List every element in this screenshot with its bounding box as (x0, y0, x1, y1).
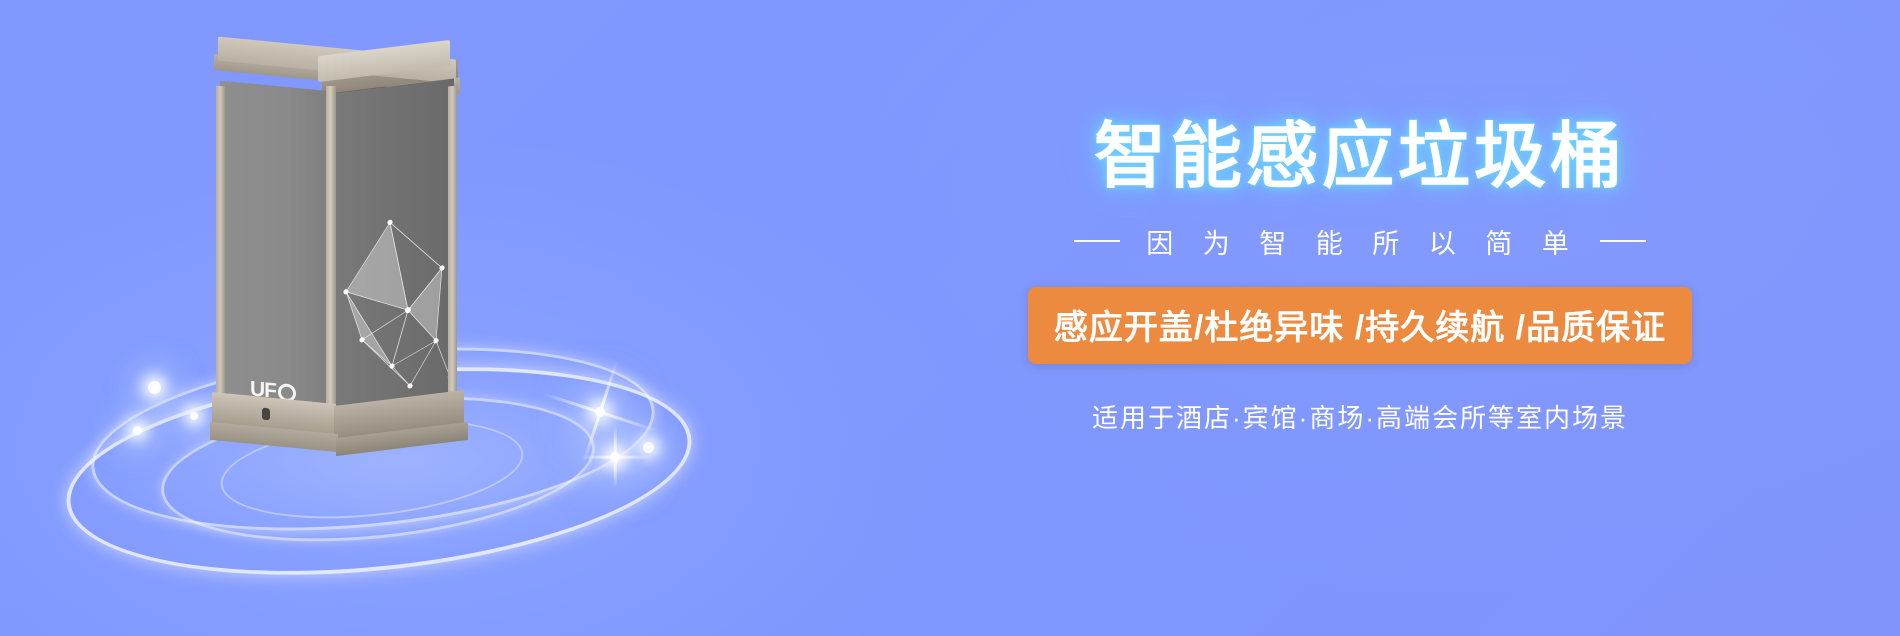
bin-sensor-icon (262, 408, 270, 421)
bin-face-right (332, 79, 454, 416)
headline: 智能感应垃圾桶 (880, 120, 1840, 196)
glow-dot-icon (643, 442, 654, 453)
bin-corner-pillar-right (448, 85, 457, 404)
subheadline: 因 为 智 能 所 以 简 单 (880, 222, 1840, 261)
dash-left (1074, 240, 1120, 242)
marketing-copy-block: 智能感应垃圾桶 因 为 智 能 所 以 简 单 感应开盖/杜绝异味 /持久续航 … (880, 120, 1840, 435)
glow-dot-icon (190, 412, 198, 420)
feature-bar-wrapper: 感应开盖/杜绝异味 /持久续航 /品质保证 (880, 261, 1840, 364)
bin-corner-pillar-left (216, 86, 225, 409)
bin-corner-pillar-middle (326, 86, 336, 416)
glow-dot-icon (148, 381, 161, 394)
trash-bin-graphic: UF 智能感应垃圾桶 INTELLIGENT INDUCTION TRASH C… (210, 42, 510, 462)
usage-scenario-text: 适用于酒店·宾馆·商场·高端会所等室内场景 (880, 398, 1840, 435)
subheadline-text: 因 为 智 能 所 以 简 单 (1140, 222, 1580, 261)
promo-banner: UF 智能感应垃圾桶 INTELLIGENT INDUCTION TRASH C… (0, 0, 1900, 636)
bin-face-front (220, 81, 332, 412)
product-illustration: UF 智能感应垃圾桶 INTELLIGENT INDUCTION TRASH C… (60, 30, 820, 590)
polygon-network-icon (332, 209, 454, 414)
glow-dot-icon (133, 426, 142, 435)
feature-highlight-bar: 感应开盖/杜绝异味 /持久续航 /品质保证 (1028, 287, 1692, 364)
dash-right (1600, 240, 1646, 242)
